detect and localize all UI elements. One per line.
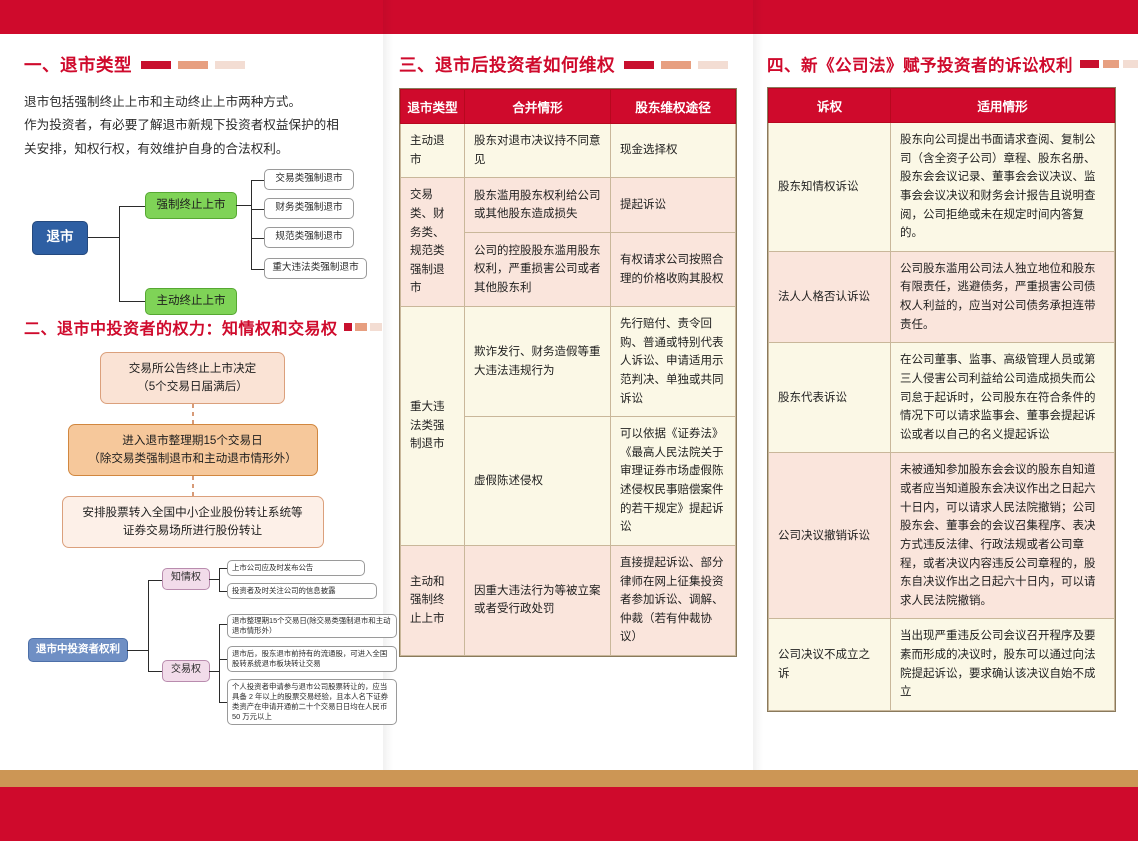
cell-category: 主动和强制终止上市 [401, 545, 465, 655]
section4-dashes [1080, 60, 1138, 68]
column-three: 四、新《公司法》赋予投资者的诉讼权利 诉权 适用情形 股东知情权诉讼 [753, 34, 1138, 770]
bottom-brand-band [0, 787, 1138, 841]
dash-dark-icon [141, 61, 171, 69]
rights-branch-trading: 交易权 [162, 660, 210, 682]
mindmap-leaf-regulatory: 规范类强制退市 [264, 227, 354, 248]
connector [119, 206, 146, 207]
rights-leaf-investor-threshold: 个人投资者申请参与退市公司股票转让的，应当具备 2 年以上的股票交易经验，且本人… [227, 679, 397, 725]
table-header-row: 退市类型 合并情形 股东维权途径 [401, 90, 736, 124]
mindmap-leaf-financial: 财务类强制退市 [264, 198, 354, 219]
cell-situation: 未被通知参加股东会会议的股东自知道或者应当知道股东会决议作出之日起六十日内，可以… [891, 453, 1115, 619]
connector [148, 671, 163, 672]
top-brand-band [0, 0, 1138, 34]
flow-step-3: 安排股票转入全国中小企业股份转让系统等 证券交易场所进行股份转让 [62, 496, 324, 548]
dash-dark-icon [624, 61, 654, 69]
table-row: 主动和强制终止上市 因重大违法行为等被立案或者受行政处罚 直接提起诉讼、部分律师… [401, 545, 736, 655]
cell-situation: 股东滥用股东权利给公司或其他股东造成损失 [465, 178, 611, 233]
table-row: 股东知情权诉讼 股东向公司提出书面请求查阅、复制公司（含全资子公司）章程、股东名… [769, 123, 1115, 252]
cell-right: 公司决议撤销诉讼 [769, 453, 891, 619]
remedy-table-wrapper: 退市类型 合并情形 股东维权途径 主动退市 股东对退市决议持不同意见 现金选择权… [399, 88, 737, 657]
cell-situation: 虚假陈述侵权 [465, 417, 611, 546]
cell-situation: 因重大违法行为等被立案或者受行政处罚 [465, 545, 611, 655]
connector [251, 180, 252, 270]
table-row: 股东代表诉讼 在公司董事、监事、高级管理人员或第三人侵害公司利益给公司造成损失而… [769, 343, 1115, 453]
section1-intro: 退市包括强制终止上市和主动终止上市两种方式。 作为投资者，有必要了解退市新规下投… [24, 91, 361, 161]
cell-right: 股东知情权诉讼 [769, 123, 891, 252]
dash-mid-icon [1103, 60, 1119, 68]
dash-dark-icon [344, 323, 352, 331]
investor-rights-mindmap: 退市中投资者权利 知情权 交易权 上市公司应及时发布公告 投资者及时关注公司的信… [28, 562, 398, 717]
flow-connector-2 [192, 476, 194, 496]
dash-mid-icon [661, 61, 691, 69]
flow-step-2-line2: （除交易类强制退市和主动退市情形外） [79, 450, 307, 468]
section2-dashes [344, 323, 382, 331]
flow-step-2-line1: 进入退市整理期15个交易日 [79, 432, 307, 450]
bottom-gold-band [0, 770, 1138, 787]
intro-line-3: 关安排，知权行权，有效维护自身的合法权利。 [24, 138, 361, 161]
cell-remedy: 直接提起诉讼、部分律师在网上征集投资者参加诉讼、调解、仲裁（若有仲裁协议） [611, 545, 736, 655]
connector [251, 238, 265, 239]
flow-connector-1 [192, 404, 194, 424]
cell-situation: 公司股东滥用公司法人独立地位和股东有限责任，逃避债务，严重损害公司债权人利益的，… [891, 251, 1115, 343]
header-situation: 合并情形 [465, 90, 611, 124]
cell-category: 主动退市 [401, 124, 465, 178]
column-two: 三、退市后投资者如何维权 退市类型 合并情形 股东维权途径 主动退 [383, 34, 753, 770]
header-applicable-situation: 适用情形 [891, 89, 1115, 123]
mindmap-root-delisting: 退市 [32, 221, 88, 255]
table-row: 重大违法类强制退市 欺诈发行、财务造假等重大违法违规行为 先行赔付、责令回购、普… [401, 307, 736, 417]
section1-heading: 一、退市类型 [24, 52, 361, 77]
column-one: 一、退市类型 退市包括强制终止上市和主动终止上市两种方式。 作为投资者，有必要了… [0, 34, 383, 770]
dash-light-icon [215, 61, 245, 69]
table-header-row: 诉权 适用情形 [769, 89, 1115, 123]
dash-light-icon [370, 323, 382, 331]
cell-right: 法人人格否认诉讼 [769, 251, 891, 343]
section3-title: 三、退市后投资者如何维权 [399, 52, 615, 77]
connector [148, 580, 163, 581]
mindmap-branch-voluntary: 主动终止上市 [145, 288, 237, 315]
rights-leaf-cleanup-period: 退市整理期15个交易日(除交易类强制退市和主动退市情形外） [227, 614, 397, 638]
flow-step-1-line1: 交易所公告终止上市决定 [111, 360, 274, 378]
section1-title: 一、退市类型 [24, 52, 132, 77]
header-delisting-type: 退市类型 [401, 90, 465, 124]
table-row: 交易类、财务类、规范类强制退市 股东滥用股东权利给公司或其他股东造成损失 提起诉… [401, 178, 736, 233]
table-row: 主动退市 股东对退市决议持不同意见 现金选择权 [401, 124, 736, 178]
mindmap-leaf-major-violation: 重大违法类强制退市 [264, 258, 367, 279]
mindmap-branch-forced: 强制终止上市 [145, 192, 237, 219]
flow-step-3-line2: 证券交易场所进行股份转让 [73, 522, 313, 540]
cell-remedy: 先行赔付、责令回购、普通或特别代表人诉讼、申请适用示范判决、单独或共同诉讼 [611, 307, 736, 417]
table-row: 法人人格否认诉讼 公司股东滥用公司法人独立地位和股东有限责任，逃避债务，严重损害… [769, 251, 1115, 343]
mindmap-leaf-trading: 交易类强制退市 [264, 169, 354, 190]
dash-light-icon [698, 61, 728, 69]
header-remedy: 股东维权途径 [611, 90, 736, 124]
cell-situation: 公司的控股股东滥用股东权利，严重损害公司或者其他股东利 [465, 233, 611, 307]
cell-situation: 当出现严重违反公司会议召开程序及要素而形成的决议时，股东可以通过向法院提起诉讼，… [891, 619, 1115, 711]
section1-dashes [141, 61, 245, 69]
rights-leaf-attention: 投资者及时关注公司的信息披露 [227, 583, 377, 599]
rights-leaf-disclosure: 上市公司应及时发布公告 [227, 560, 365, 576]
flow-step-2: 进入退市整理期15个交易日 （除交易类强制退市和主动退市情形外） [68, 424, 318, 476]
section4-title: 四、新《公司法》赋予投资者的诉讼权利 [767, 52, 1073, 76]
connector [251, 269, 265, 270]
rights-mindmap-root: 退市中投资者权利 [28, 638, 128, 662]
cell-right: 股东代表诉讼 [769, 343, 891, 453]
intro-line-1: 退市包括强制终止上市和主动终止上市两种方式。 [24, 91, 361, 114]
cell-situation: 在公司董事、监事、高级管理人员或第三人侵害公司利益给公司造成损失而公司怠于起诉时… [891, 343, 1115, 453]
cell-category: 重大违法类强制退市 [401, 307, 465, 546]
connector [251, 180, 265, 181]
cell-situation: 股东对退市决议持不同意见 [465, 124, 611, 178]
section3-heading: 三、退市后投资者如何维权 [399, 52, 737, 77]
table-row: 公司决议不成立之诉 当出现严重违反公司会议召开程序及要素而形成的决议时，股东可以… [769, 619, 1115, 711]
infographic-page: 一、退市类型 退市包括强制终止上市和主动终止上市两种方式。 作为投资者，有必要了… [0, 0, 1138, 841]
rights-leaf-transfer-system: 退市后，股东退市前持有的流通股，可进入全国股转系统退市板块转让交易 [227, 646, 397, 672]
intro-line-2: 作为投资者，有必要了解退市新规下投资者权益保护的相 [24, 114, 361, 137]
dash-mid-icon [355, 323, 367, 331]
connector [119, 301, 146, 302]
cell-right: 公司决议不成立之诉 [769, 619, 891, 711]
dash-dark-icon [1080, 60, 1099, 68]
connector [88, 237, 120, 238]
section2-title: 二、退市中投资者的权力：知情权和交易权 [24, 315, 338, 339]
cell-remedy: 可以依据《证券法》《最高人民法院关于审理证券市场虚假陈述侵权民事赔偿案件的若干规… [611, 417, 736, 546]
flow-step-3-line1: 安排股票转入全国中小企业股份转让系统等 [73, 504, 313, 522]
cell-category: 交易类、财务类、规范类强制退市 [401, 178, 465, 307]
flow-step-1-line2: （5个交易日届满后） [111, 378, 274, 396]
remedy-table: 退市类型 合并情形 股东维权途径 主动退市 股东对退市决议持不同意见 现金选择权… [400, 89, 736, 656]
section4-heading: 四、新《公司法》赋予投资者的诉讼权利 [767, 52, 1116, 76]
litigation-table: 诉权 适用情形 股东知情权诉讼 股东向公司提出书面请求查阅、复制公司（含全资子公… [768, 88, 1115, 711]
delisting-flowchart: 交易所公告终止上市决定 （5个交易日届满后） 进入退市整理期15个交易日 （除交… [24, 352, 361, 548]
cell-remedy: 提起诉讼 [611, 178, 736, 233]
connector [219, 568, 220, 592]
dash-mid-icon [178, 61, 208, 69]
connector [251, 209, 265, 210]
rights-branch-information: 知情权 [162, 568, 210, 590]
connector [148, 580, 149, 672]
cell-situation: 欺诈发行、财务造假等重大违法违规行为 [465, 307, 611, 417]
connector [219, 624, 220, 703]
flow-step-1: 交易所公告终止上市决定 （5个交易日届满后） [100, 352, 285, 404]
delisting-type-mindmap: 退市 强制终止上市 主动终止上市 交易类强制退市 财务类强制退市 规范类强制退市… [32, 175, 392, 303]
connector [119, 206, 120, 302]
section2-heading: 二、退市中投资者的权力：知情权和交易权 [24, 315, 361, 339]
cell-remedy: 有权请求公司按照合理的价格收购其股权 [611, 233, 736, 307]
dash-light-icon [1123, 60, 1138, 68]
cell-remedy: 现金选择权 [611, 124, 736, 178]
cell-situation: 股东向公司提出书面请求查阅、复制公司（含全资子公司）章程、股东名册、股东会会议记… [891, 123, 1115, 252]
connector [236, 205, 252, 206]
header-right-of-action: 诉权 [769, 89, 891, 123]
connector [127, 650, 149, 651]
section3-dashes [624, 61, 728, 69]
table-row: 公司决议撤销诉讼 未被通知参加股东会会议的股东自知道或者应当知道股东会决议作出之… [769, 453, 1115, 619]
litigation-table-wrapper: 诉权 适用情形 股东知情权诉讼 股东向公司提出书面请求查阅、复制公司（含全资子公… [767, 87, 1116, 712]
